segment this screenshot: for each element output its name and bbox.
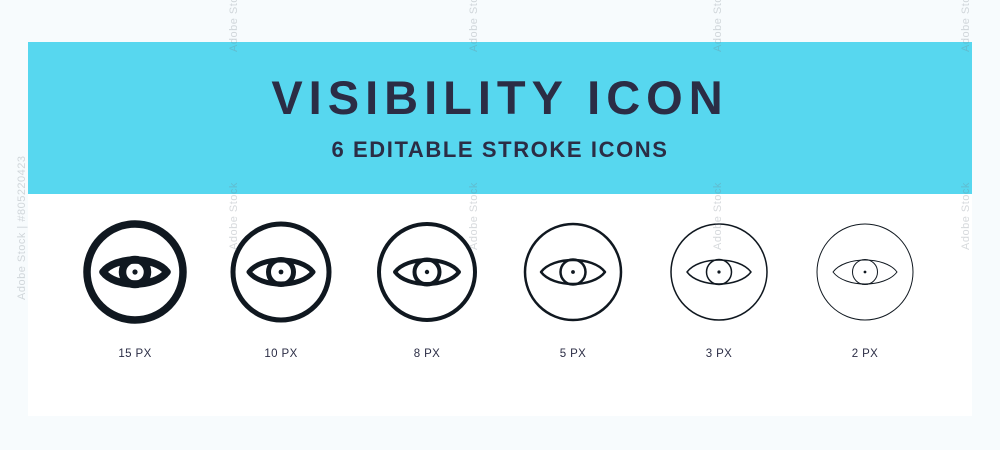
icon-item-2px[interactable]: 2 PX [800,218,930,360]
icon-label-15px: 15 PX [118,348,151,360]
icon-grid: 15 PX 10 PX 8 PX [28,194,972,416]
visibility-eye-icon-5px[interactable] [519,218,627,326]
watermark-stock-id: Adobe Stock | #805220423 [16,155,28,300]
icon-label-8px: 8 PX [414,348,441,360]
icon-label-5px: 5 PX [560,348,587,360]
icon-label-10px: 10 PX [264,348,297,360]
visibility-eye-icon-8px[interactable] [373,218,481,326]
visibility-eye-icon-3px[interactable] [665,218,773,326]
icon-item-15px[interactable]: 15 PX [70,218,200,360]
visibility-eye-icon-15px[interactable] [81,218,189,326]
header-banner: VISIBILITY ICON 6 EDITABLE STROKE ICONS [28,42,972,194]
icon-label-3px: 3 PX [706,348,733,360]
page-subtitle: 6 EDITABLE STROKE ICONS [331,137,668,163]
icon-item-5px[interactable]: 5 PX [508,218,638,360]
icon-set-card: VISIBILITY ICON 6 EDITABLE STROKE ICONS … [28,42,972,416]
page-title: VISIBILITY ICON [271,74,728,121]
icon-item-3px[interactable]: 3 PX [654,218,784,360]
icon-item-10px[interactable]: 10 PX [216,218,346,360]
visibility-eye-icon-2px[interactable] [811,218,919,326]
icon-item-8px[interactable]: 8 PX [362,218,492,360]
visibility-eye-icon-10px[interactable] [227,218,335,326]
canvas: VISIBILITY ICON 6 EDITABLE STROKE ICONS … [0,0,1000,450]
icon-label-2px: 2 PX [852,348,879,360]
